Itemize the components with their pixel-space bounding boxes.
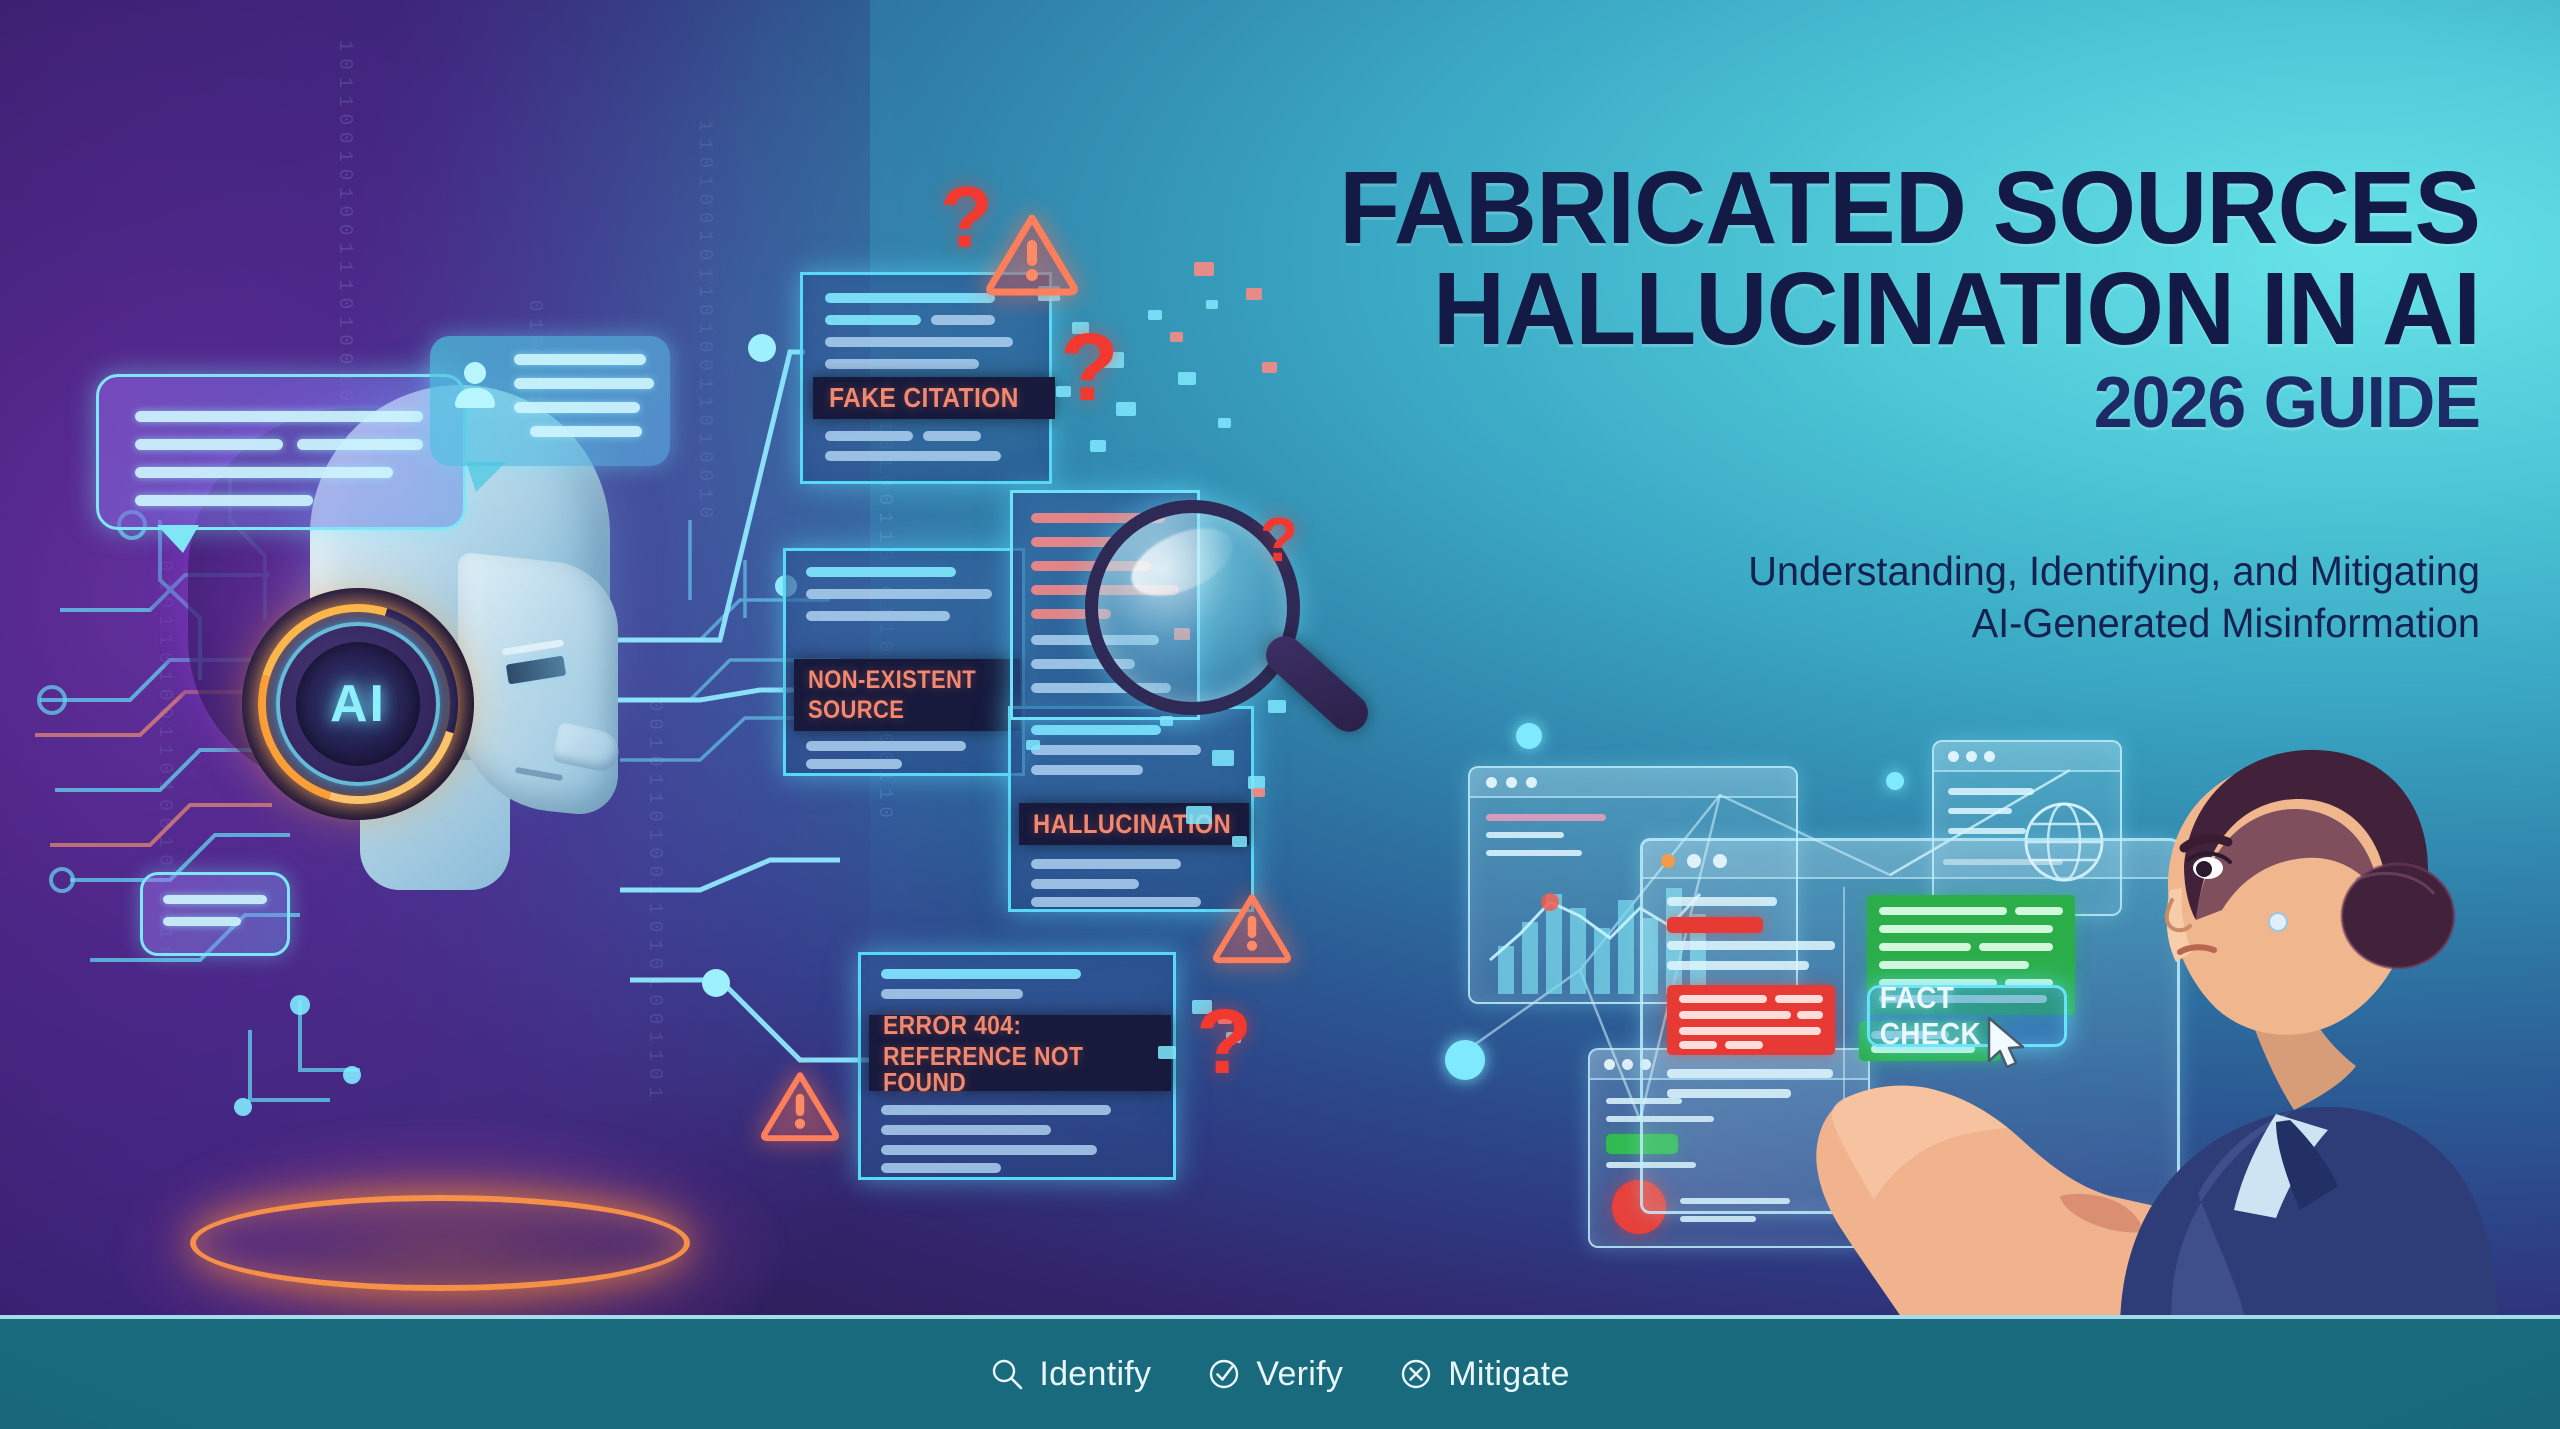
banner-image: 1011001010011101001011 01001101001011001… [0,0,2560,1429]
vignette-overlay [0,0,2560,1429]
